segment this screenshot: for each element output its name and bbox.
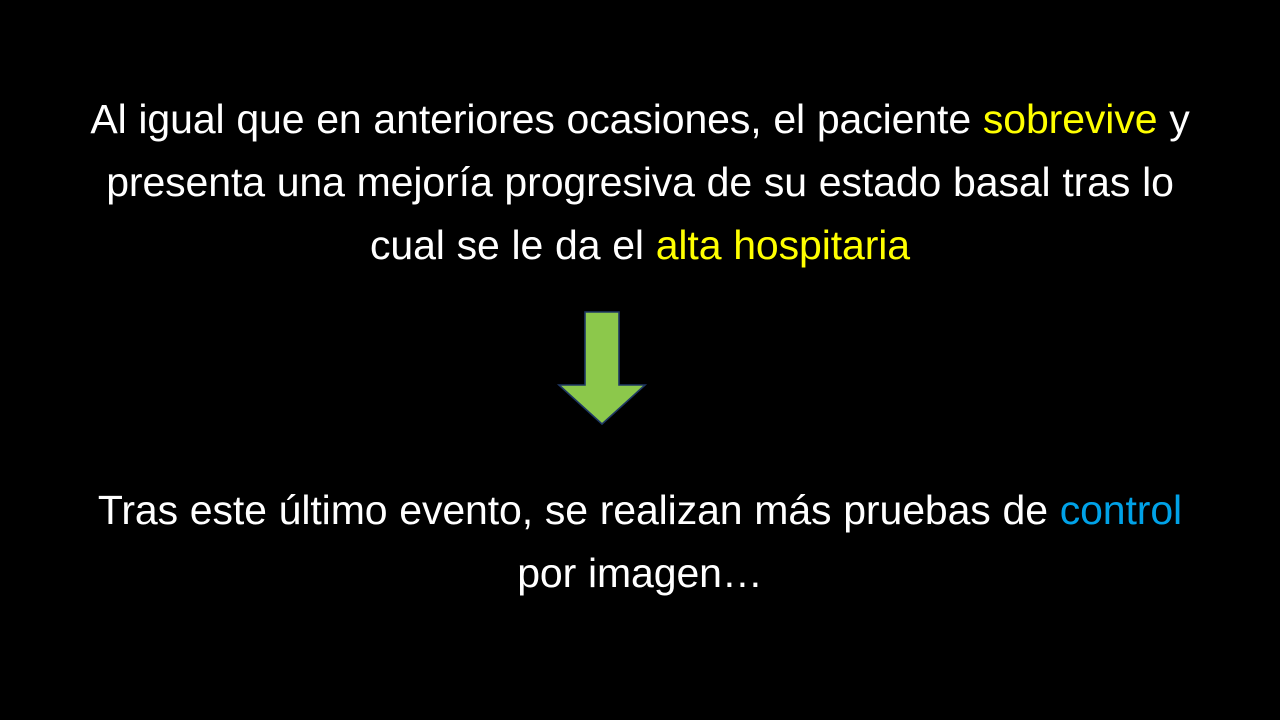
down-arrow-polygon xyxy=(559,312,645,424)
paragraph-bottom: Tras este último evento, se realizan más… xyxy=(0,479,1280,605)
slide-canvas: Al igual que en anteriores ocasiones, el… xyxy=(0,0,1280,720)
paragraph-bottom-text-2: por imagen… xyxy=(517,550,763,596)
paragraph-top-text-1: Al igual que en anteriores ocasiones, el… xyxy=(90,96,982,142)
paragraph-top-highlight-alta-hospitaria: alta hospitaria xyxy=(656,222,910,268)
paragraph-bottom-highlight-control: control xyxy=(1060,487,1182,533)
paragraph-bottom-text-1: Tras este último evento, se realizan más… xyxy=(98,487,1060,533)
down-arrow-glyph xyxy=(558,311,646,425)
down-arrow-icon xyxy=(558,311,646,425)
paragraph-top: Al igual que en anteriores ocasiones, el… xyxy=(0,88,1280,277)
paragraph-top-highlight-sobrevive: sobrevive xyxy=(983,96,1158,142)
